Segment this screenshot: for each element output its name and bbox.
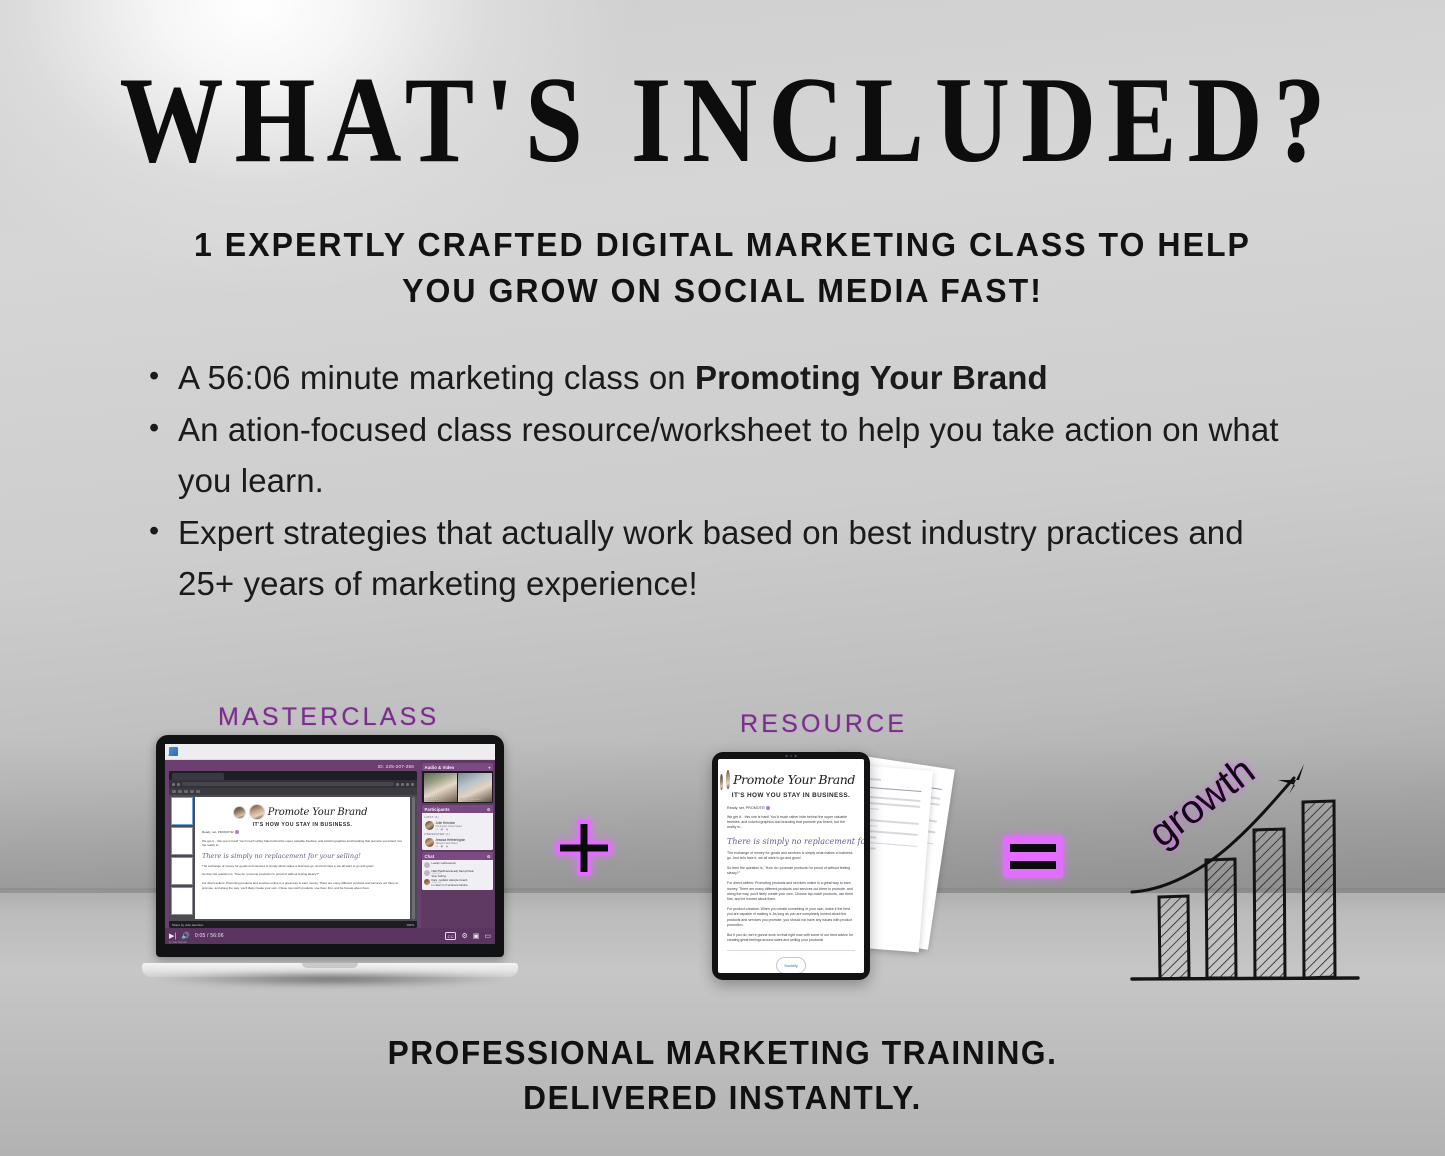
participant-info: Julie Herndon Huntington United States ▭… bbox=[436, 821, 463, 831]
participant-name: Jessica Hetherington bbox=[436, 838, 466, 842]
feature-bullet-list: A 56:06 minute marketing class on Promot… bbox=[145, 352, 1305, 610]
pdf-viewer: Promote Your Brand IT'S HOW YOU STAY IN … bbox=[169, 795, 417, 921]
collapse-icon[interactable]: ▾ bbox=[488, 765, 490, 770]
fit-page-icon[interactable] bbox=[196, 790, 200, 793]
emoji-icon bbox=[766, 806, 770, 810]
pdf-thumbnail[interactable] bbox=[171, 797, 193, 825]
growth-arrow-head bbox=[1278, 764, 1304, 794]
playback-time: 0:05 / 56:06 bbox=[195, 933, 224, 939]
page-title: WHAT'S INCLUDED? bbox=[0, 56, 1445, 185]
slide-script-line: There is simply no replacement for your … bbox=[202, 852, 403, 860]
worksheet-header: Promote Your Brand bbox=[727, 768, 855, 790]
extensions-icon[interactable] bbox=[401, 783, 404, 786]
chat-panel: Chat ⚙ Leader Ladiessssss! bbox=[422, 852, 493, 890]
avatar bbox=[424, 870, 430, 876]
brand-logo-text: Socially bbox=[784, 963, 798, 968]
page-number-field[interactable] bbox=[178, 790, 182, 793]
footer-caption: PROFESSIONAL MARKETING TRAINING. DELIVER… bbox=[29, 1030, 1416, 1120]
bullet-text: A 56:06 minute marketing class on bbox=[178, 359, 695, 396]
play-next-icon[interactable]: ▶| bbox=[169, 933, 176, 940]
worksheet-paragraph: But if you do, we're gonna work on that … bbox=[727, 933, 855, 943]
chart-bar bbox=[1159, 896, 1189, 979]
url-field[interactable] bbox=[182, 782, 394, 786]
equals-operator bbox=[1003, 836, 1063, 878]
laptop-mockup: Zoom ID: 225-207-258 bbox=[142, 735, 518, 985]
chat-text: Im down to 5 windows hahaha bbox=[432, 884, 468, 887]
subtitle-line-2: YOU GROW ON SOCIAL MEDIA FAST! bbox=[128, 268, 1316, 314]
video-tile-name: Julie Herndon bbox=[425, 799, 439, 801]
label-masterclass: MASTERCLASS bbox=[218, 703, 439, 732]
list-item: A 56:06 minute marketing class on Promot… bbox=[145, 352, 1305, 403]
video-tile[interactable]: Julie Herndon bbox=[424, 773, 458, 802]
slide-script-title: Promote Your Brand bbox=[268, 807, 368, 818]
zoom-out-icon[interactable] bbox=[184, 790, 188, 793]
worksheet-paragraph: We get it... this one is hard! You'd muc… bbox=[727, 815, 855, 831]
panel-header: Audio & Video ▾ bbox=[422, 763, 493, 771]
chat-title: Chat bbox=[425, 854, 435, 859]
audio-video-title: Audio & Video bbox=[425, 765, 455, 770]
tablet-camera-icons bbox=[786, 755, 797, 757]
chat-messages: Leader Ladiessssss! NikkiThatFinanceLady… bbox=[422, 860, 493, 890]
footer-line-1: PROFESSIONAL MARKETING TRAINING. bbox=[29, 1030, 1416, 1075]
picture-in-picture-icon[interactable]: ▣ bbox=[473, 932, 480, 940]
pdf-page: Promote Your Brand IT'S HOW YOU STAY IN … bbox=[195, 797, 410, 919]
bullet-text: An ation-focused class resource/workshee… bbox=[178, 411, 1279, 499]
slide-ready-text: Ready, set, PROMOTE! bbox=[202, 830, 234, 834]
pdf-thumbnail[interactable] bbox=[171, 857, 193, 885]
emoji-icon bbox=[235, 830, 239, 834]
tablet-device: Promote Your Brand IT'S HOW YOU STAY IN … bbox=[712, 752, 870, 980]
plus-icon bbox=[552, 816, 616, 880]
participants-panel: Participants ⚙ HOST (1) Julie Herndon bbox=[422, 805, 493, 850]
pdf-thumbnail[interactable] bbox=[171, 827, 193, 855]
participant-info: Jessica Hetherington Tampa United States… bbox=[436, 838, 466, 848]
worksheet-subtitle: IT'S HOW YOU STAY IN BUSINESS. bbox=[727, 792, 855, 799]
shared-browser-window: Promote Your Brand IT'S HOW YOU STAY IN … bbox=[169, 771, 417, 928]
slide-paragraph: So then the question is, "how do i promo… bbox=[202, 872, 403, 877]
browser-tab-strip[interactable] bbox=[169, 771, 417, 780]
gear-icon[interactable]: ⚙ bbox=[487, 854, 491, 859]
worksheet-ready-text: Ready, set, PROMOTE! bbox=[727, 806, 765, 810]
plus-operator bbox=[552, 816, 616, 880]
profile-icon[interactable] bbox=[406, 783, 409, 786]
zoom-in-icon[interactable] bbox=[190, 790, 194, 793]
avatar bbox=[424, 862, 430, 868]
chart-bar bbox=[1303, 801, 1335, 978]
zoom-application: Zoom ID: 225-207-258 bbox=[165, 744, 495, 944]
screen-share-area: ID: 225-207-258 bbox=[165, 760, 421, 928]
subtitle-line-1: 1 EXPERTLY CRAFTED DIGITAL MARKETING CLA… bbox=[128, 222, 1316, 268]
slide-paragraph: The exchange of money for goods and serv… bbox=[202, 864, 403, 869]
slide-subtitle: IT'S HOW YOU STAY IN BUSINESS. bbox=[202, 822, 403, 828]
slide-paragraph: We get it... this one is hard! You'd muc… bbox=[202, 839, 403, 848]
list-item[interactable]: Julie Herndon Huntington United States ▭… bbox=[424, 820, 492, 832]
closed-caption-button[interactable]: CC bbox=[445, 932, 456, 940]
brand-logo: Socially bbox=[776, 957, 806, 973]
avatar bbox=[233, 806, 246, 819]
worksheet-paragraph: The exchange of money for goods and serv… bbox=[727, 851, 855, 861]
volume-icon[interactable]: 🔊 bbox=[181, 933, 190, 940]
participants-title: Participants bbox=[425, 807, 450, 812]
zoom-side-panels: Audio & Video ▾ Julie Herndon Jessica He… bbox=[421, 760, 495, 928]
sidebar-toggle-icon[interactable] bbox=[172, 790, 176, 793]
forward-icon[interactable] bbox=[177, 783, 180, 786]
list-item[interactable]: Jessica Hetherington Tampa United States… bbox=[424, 837, 492, 849]
chat-message: Leader Ladiessssss! bbox=[432, 862, 457, 868]
chat-text: Stop Selling bbox=[432, 875, 474, 878]
worksheet-paragraph: So then the question is, "How do i promo… bbox=[727, 866, 855, 876]
worksheet-paragraph: For direct-sellers: Promoting products a… bbox=[727, 881, 855, 902]
chat-message: Dani - Holistic Lifestyle Coach 1:09:55:… bbox=[432, 879, 468, 887]
share-owner: Share by Julie Herndon bbox=[172, 923, 203, 927]
list-item: NikkiThatFinanceLady SavvyCheck 1:09:54:… bbox=[424, 869, 492, 879]
browser-topbar: Zoom bbox=[165, 744, 495, 760]
chat-message: NikkiThatFinanceLady SavvyCheck 1:09:54:… bbox=[432, 870, 474, 878]
meeting-id: ID: 225-207-258 bbox=[169, 763, 417, 771]
list-item: Leader Ladiessssss! bbox=[424, 862, 492, 870]
pdf-thumbnail[interactable] bbox=[171, 887, 193, 915]
avatar bbox=[424, 879, 430, 885]
participants-list: HOST (1) Julie Herndon Huntington United… bbox=[422, 813, 493, 850]
chart-bar bbox=[1206, 859, 1236, 978]
slide-paragraph: For direct-sellers: Promoting products a… bbox=[202, 881, 403, 890]
pdf-toolbar[interactable] bbox=[169, 788, 417, 795]
worksheet-script-title: Promote Your Brand bbox=[733, 772, 855, 787]
browser-tab[interactable] bbox=[172, 773, 224, 780]
avatar bbox=[425, 821, 434, 830]
list-item: An ation-focused class resource/workshee… bbox=[145, 404, 1305, 506]
participant-status-icons: ▭ ▣ ◉ bbox=[436, 828, 463, 831]
video-tile-name: Jessica Hetherington bbox=[459, 799, 480, 801]
menu-icon[interactable] bbox=[411, 783, 414, 786]
zoom-level: 100% bbox=[406, 923, 414, 927]
growth-chart: growth bbox=[1118, 742, 1380, 1007]
pdf-thumbnail-strip[interactable] bbox=[171, 797, 193, 919]
share-footer: Share by Julie Herndon 100% bbox=[169, 921, 417, 928]
worksheet-paragraph: For product-creators: When you create so… bbox=[727, 907, 855, 928]
bullet-bold-text: Promoting Your Brand bbox=[695, 359, 1048, 396]
bookmark-icon[interactable] bbox=[396, 783, 399, 786]
avatar bbox=[249, 804, 265, 820]
laptop-screen: Zoom ID: 225-207-258 bbox=[165, 744, 495, 944]
tablet-screen: Promote Your Brand IT'S HOW YOU STAY IN … bbox=[718, 759, 864, 973]
gear-icon[interactable]: ⚙ bbox=[461, 932, 467, 940]
pdf-scrollbar[interactable] bbox=[412, 797, 415, 919]
player-author-tag: by Julie Herndon bbox=[169, 941, 187, 944]
footer-line-2: DELIVERED INSTANTLY. bbox=[29, 1075, 1416, 1120]
worksheet-divider bbox=[727, 950, 855, 951]
favicon-label: Zoom bbox=[168, 754, 175, 757]
bullet-text: Expert strategies that actually work bas… bbox=[178, 514, 1244, 602]
worksheet-ready-line: Ready, set, PROMOTE! bbox=[727, 806, 855, 810]
video-tile[interactable]: Jessica Hetherington bbox=[458, 773, 492, 802]
equals-icon bbox=[1003, 836, 1063, 878]
video-thumbnails: Julie Herndon Jessica Hetherington bbox=[422, 771, 493, 803]
zoom-body: ID: 225-207-258 bbox=[165, 760, 495, 928]
participant-status-icons: ▭ ▣ ◉ bbox=[436, 845, 466, 848]
worksheet-script-line: There is simply no replacement for your … bbox=[727, 837, 855, 846]
fullscreen-icon[interactable]: ▭ bbox=[484, 932, 491, 940]
gear-icon[interactable]: ⚙ bbox=[487, 807, 491, 812]
label-resource: RESOURCE bbox=[740, 710, 907, 739]
avatar bbox=[720, 774, 723, 790]
back-icon[interactable] bbox=[172, 783, 175, 786]
chat-text: Leader Ladiessssss! bbox=[432, 862, 457, 865]
list-item: Dani - Holistic Lifestyle Coach 1:09:55:… bbox=[424, 879, 492, 889]
slide-ready-line: Ready, set, PROMOTE! bbox=[202, 830, 403, 835]
audio-video-panel: Audio & Video ▾ Julie Herndon Jessica He… bbox=[422, 763, 493, 803]
panel-header: Chat ⚙ bbox=[422, 852, 493, 860]
subtitle: 1 EXPERTLY CRAFTED DIGITAL MARKETING CLA… bbox=[128, 222, 1316, 314]
chart-bar bbox=[1254, 829, 1285, 978]
browser-address-bar[interactable] bbox=[169, 780, 417, 788]
poster-canvas: WHAT'S INCLUDED? 1 EXPERTLY CRAFTED DIGI… bbox=[0, 0, 1445, 1156]
avatar bbox=[726, 770, 730, 789]
laptop-lid: Zoom ID: 225-207-258 bbox=[156, 735, 504, 957]
panel-header: Participants ⚙ bbox=[422, 805, 493, 813]
video-player-controls[interactable]: ▶| 🔊 0:05 / 56:06 CC ⚙ ▣ ▭ by Julie Hern… bbox=[165, 928, 495, 944]
laptop-shadow bbox=[156, 971, 506, 987]
slide-header: Promote Your Brand bbox=[202, 804, 403, 820]
list-item: Expert strategies that actually work bas… bbox=[145, 507, 1305, 609]
tablet-mockup-group: Promote Your Brand IT'S HOW YOU STAY IN … bbox=[712, 752, 962, 997]
avatar bbox=[425, 838, 434, 847]
